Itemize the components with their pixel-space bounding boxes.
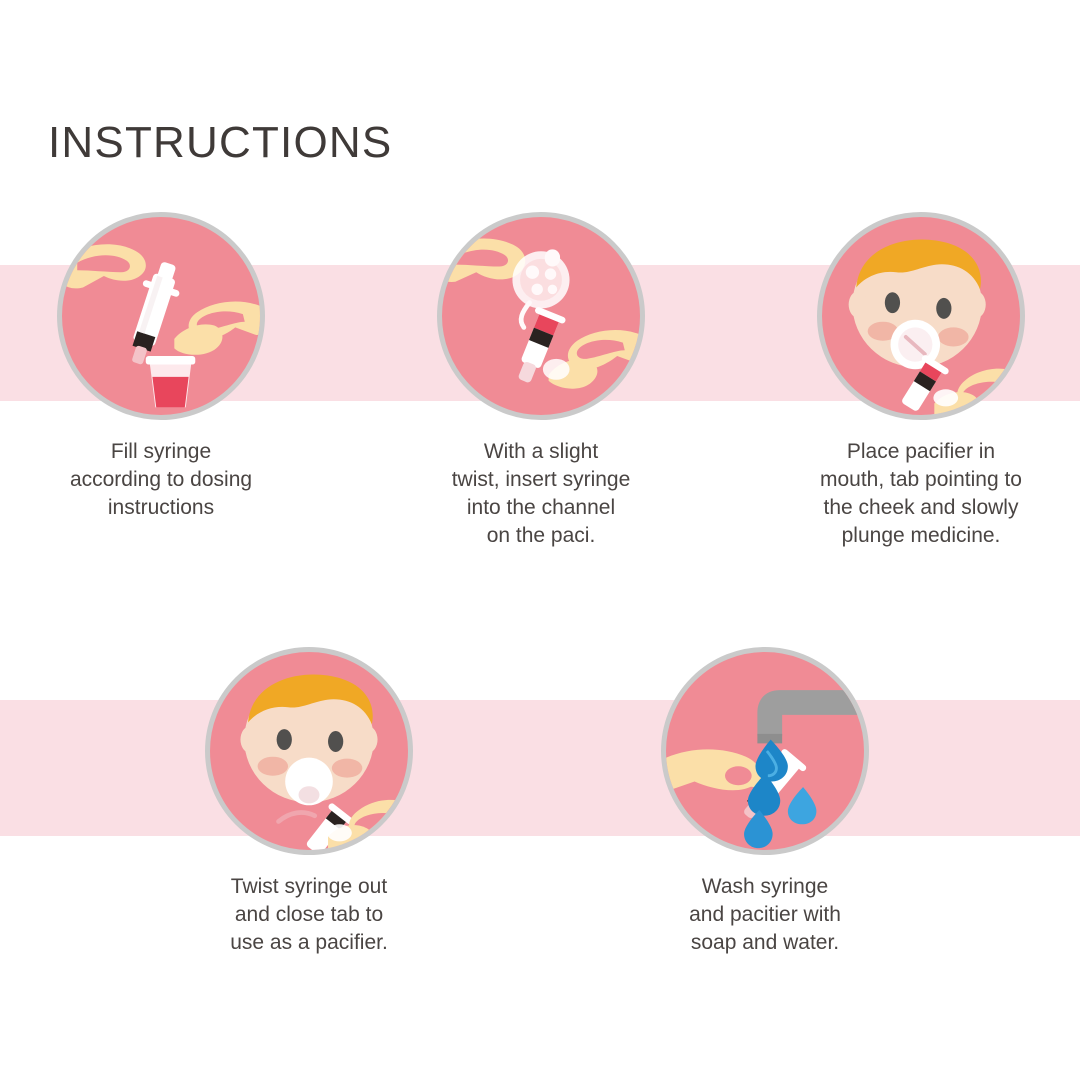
step-4-illustration-wrap xyxy=(205,647,413,855)
step-2: With a slight twist, insert syringe into… xyxy=(391,212,691,550)
step-3-illustration-wrap xyxy=(817,212,1025,420)
step-1-illustration-wrap xyxy=(57,212,265,420)
baby-plunge-medicine-icon xyxy=(822,217,1020,415)
step-1: Fill syringe according to dosing instruc… xyxy=(11,212,311,522)
step-1-caption-line-2: according to dosing xyxy=(11,466,311,494)
step-5-caption-line-1: Wash syringe xyxy=(615,873,915,901)
step-4-circle xyxy=(205,647,413,855)
step-1-caption: Fill syringe according to dosing instruc… xyxy=(11,438,311,522)
step-3-caption-line-1: Place pacifier in xyxy=(771,438,1071,466)
syringe-filling-icon xyxy=(62,217,260,415)
step-5-circle xyxy=(661,647,869,855)
step-4-caption-line-1: Twist syringe out xyxy=(159,873,459,901)
step-5-illustration-wrap xyxy=(661,647,869,855)
step-3-caption-line-3: the cheek and slowly xyxy=(771,494,1071,522)
page-title: INSTRUCTIONS xyxy=(48,118,392,168)
wash-syringe-faucet-icon xyxy=(666,652,864,850)
step-3: Place pacifier in mouth, tab pointing to… xyxy=(771,212,1071,550)
step-1-caption-line-1: Fill syringe xyxy=(11,438,311,466)
step-4-caption-line-3: use as a pacifier. xyxy=(159,929,459,957)
step-1-circle xyxy=(57,212,265,420)
step-5-caption-line-2: and pacitier with xyxy=(615,901,915,929)
step-3-caption: Place pacifier in mouth, tab pointing to… xyxy=(771,438,1071,550)
step-2-illustration-wrap xyxy=(437,212,645,420)
step-3-caption-line-2: mouth, tab pointing to xyxy=(771,466,1071,494)
step-2-caption-line-3: into the channel xyxy=(391,494,691,522)
step-4-caption: Twist syringe out and close tab to use a… xyxy=(159,873,459,957)
step-5-caption: Wash syringe and pacitier with soap and … xyxy=(615,873,915,957)
step-4-caption-line-2: and close tab to xyxy=(159,901,459,929)
baby-twist-syringe-out-icon xyxy=(210,652,408,850)
step-3-circle xyxy=(817,212,1025,420)
step-5-caption-line-3: soap and water. xyxy=(615,929,915,957)
step-1-caption-line-3: instructions xyxy=(11,494,311,522)
step-4: Twist syringe out and close tab to use a… xyxy=(159,647,459,957)
step-3-caption-line-4: plunge medicine. xyxy=(771,522,1071,550)
step-5: Wash syringe and pacitier with soap and … xyxy=(615,647,915,957)
step-2-circle xyxy=(437,212,645,420)
syringe-into-pacifier-icon xyxy=(442,217,640,415)
step-2-caption-line-2: twist, insert syringe xyxy=(391,466,691,494)
step-2-caption: With a slight twist, insert syringe into… xyxy=(391,438,691,550)
step-2-caption-line-1: With a slight xyxy=(391,438,691,466)
instructions-infographic: INSTRUCTIONS xyxy=(0,0,1080,1080)
step-2-caption-line-4: on the paci. xyxy=(391,522,691,550)
